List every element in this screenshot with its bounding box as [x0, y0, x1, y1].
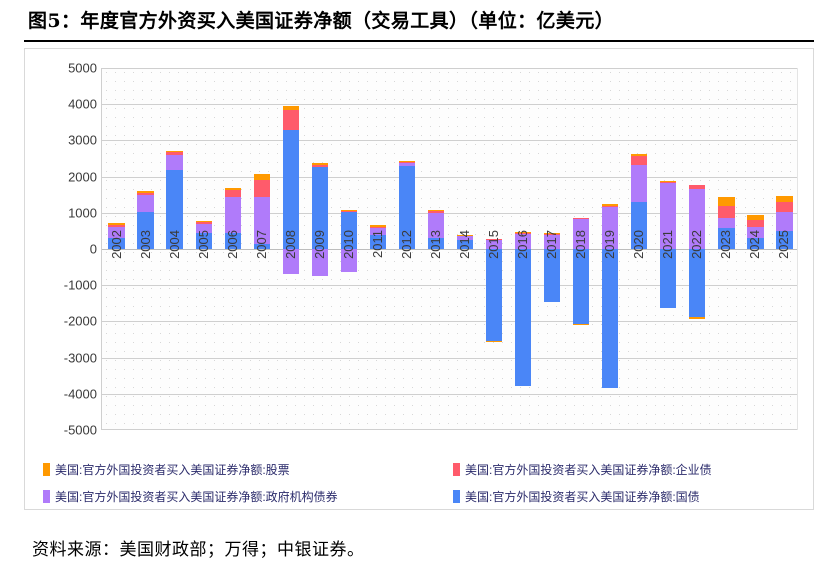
bar-segment: [457, 240, 473, 249]
bar-segment: [544, 234, 560, 235]
bar-segment: [515, 233, 531, 249]
bar-segment: [283, 110, 299, 130]
legend-item[interactable]: 美国:官方外国投资者买入美国证券净额:国债: [453, 484, 700, 508]
bar-segment: [689, 185, 705, 189]
bar-segment: [486, 239, 502, 240]
bar-segment: [196, 233, 212, 249]
bar-segment: [602, 249, 618, 388]
legend-label: 美国:官方外国投资者买入美国证券净额:企业债: [465, 461, 712, 478]
bar-column[interactable]: [370, 68, 386, 430]
bar-segment: [660, 183, 676, 249]
bar-segment: [137, 212, 153, 249]
bar-segment: [544, 233, 560, 234]
bar-segment: [776, 202, 792, 212]
y-tick-label: 5000: [27, 61, 97, 76]
bar-segment: [225, 188, 241, 190]
bar-segment: [718, 218, 734, 229]
bar-segment: [428, 210, 444, 211]
bar-segment: [108, 238, 124, 249]
bar-segment: [486, 239, 502, 249]
bar-segment: [370, 225, 386, 226]
bar-segment: [486, 341, 502, 342]
bar-segment: [399, 163, 415, 166]
y-tick-label: 0: [27, 242, 97, 257]
bar-segment: [515, 249, 531, 386]
bar-column[interactable]: [544, 68, 560, 430]
bar-segment: [399, 166, 415, 249]
chart-page: 图5：年度官方外资买入美国证券净额（交易工具）（单位：亿美元） 50004000…: [0, 0, 836, 581]
bar-segment: [370, 228, 386, 235]
bar-segment: [428, 213, 444, 238]
bar-column[interactable]: [283, 68, 299, 430]
bar-segment: [225, 233, 241, 249]
bar-column[interactable]: [341, 68, 357, 430]
bar-segment: [225, 190, 241, 197]
bar-segment: [283, 106, 299, 110]
bar-segment: [747, 220, 763, 227]
bar-segment: [718, 206, 734, 218]
bar-column[interactable]: [573, 68, 589, 430]
bar-segment: [254, 174, 270, 180]
bar-segment: [283, 249, 299, 274]
bar-segment: [166, 170, 182, 249]
bar-column[interactable]: [108, 68, 124, 430]
bar-segment: [341, 210, 357, 211]
bar-segment: [515, 232, 531, 233]
bar-segment: [312, 165, 328, 167]
bar-segment: [515, 233, 531, 234]
legend-color-swatch: [453, 490, 460, 503]
bar-segment: [428, 238, 444, 249]
legend-color-swatch: [43, 463, 50, 476]
bar-segment: [399, 161, 415, 162]
bar-column[interactable]: [137, 68, 153, 430]
y-tick-label: -4000: [27, 386, 97, 401]
figure-title: 图5：年度官方外资买入美国证券净额（交易工具）（单位：亿美元）: [28, 6, 818, 38]
legend-item[interactable]: 美国:官方外国投资者买入美国证券净额:企业债: [453, 457, 712, 481]
bar-segment: [312, 249, 328, 276]
bar-segment: [718, 228, 734, 249]
bar-segment: [166, 155, 182, 170]
bar-segment: [718, 197, 734, 206]
legend-item[interactable]: 美国:官方外国投资者买入美国证券净额:股票: [43, 457, 290, 481]
bar-segment: [137, 195, 153, 212]
bar-segment: [573, 219, 589, 249]
bar-segment: [108, 225, 124, 227]
y-tick-label: 2000: [27, 169, 97, 184]
bar-segment: [776, 196, 792, 203]
bar-segment: [631, 202, 647, 249]
bar-segment: [602, 204, 618, 205]
bar-segment: [660, 181, 676, 182]
bar-column[interactable]: [631, 68, 647, 430]
y-tick-label: 1000: [27, 205, 97, 220]
legend-item[interactable]: 美国:官方外国投资者买入美国证券净额:政府机构债券: [43, 484, 338, 508]
bar-segment: [631, 156, 647, 165]
bar-segment: [573, 324, 589, 325]
bar-segment: [602, 206, 618, 207]
bar-segment: [312, 163, 328, 164]
bar-segment: [689, 189, 705, 249]
bar-segment: [573, 249, 589, 324]
bar-segment: [631, 165, 647, 202]
y-tick-label: 4000: [27, 97, 97, 112]
bar-segment: [254, 244, 270, 249]
bar-column[interactable]: [747, 68, 763, 430]
plot-area: [101, 68, 798, 430]
bar-segment: [747, 227, 763, 238]
y-tick-label: -3000: [27, 350, 97, 365]
bar-segment: [254, 180, 270, 196]
bar-column[interactable]: [718, 68, 734, 430]
bar-column[interactable]: [225, 68, 241, 430]
y-axis-labels: 500040003000200010000-1000-2000-3000-400…: [25, 49, 101, 449]
bar-segment: [225, 197, 241, 234]
bar-segment: [137, 193, 153, 195]
bar-column[interactable]: [428, 68, 444, 430]
bar-segment: [776, 231, 792, 249]
chart-legend: 美国:官方外国投资者买入美国证券净额:股票美国:官方外国投资者买入美国证券净额:…: [25, 449, 815, 509]
bar-segment: [196, 224, 212, 233]
bar-segment: [747, 215, 763, 220]
bar-segment: [660, 249, 676, 308]
bar-segment: [196, 221, 212, 222]
legend-color-swatch: [453, 463, 460, 476]
bar-segment: [254, 197, 270, 245]
source-note: 资料来源：美国财政部；万得；中银证券。: [32, 535, 732, 560]
bar-column[interactable]: [457, 68, 473, 430]
bar-segment: [486, 249, 502, 341]
bar-segment: [660, 182, 676, 184]
bar-segment: [137, 191, 153, 192]
bar-segment: [457, 235, 473, 236]
chart-container: 500040003000200010000-1000-2000-3000-400…: [24, 48, 814, 510]
legend-label: 美国:官方外国投资者买入美国证券净额:政府机构债券: [55, 488, 338, 505]
bar-column[interactable]: [486, 68, 502, 430]
bar-column[interactable]: [689, 68, 705, 430]
legend-label: 美国:官方外国投资者买入美国证券净额:国债: [465, 488, 700, 505]
bar-segment: [341, 249, 357, 272]
bar-series-group: [102, 68, 797, 430]
bar-column[interactable]: [166, 68, 182, 430]
bar-segment: [544, 235, 560, 249]
bar-segment: [108, 223, 124, 224]
bar-segment: [631, 154, 647, 155]
title-divider: [24, 40, 814, 42]
bar-column[interactable]: [196, 68, 212, 430]
bar-segment: [370, 235, 386, 249]
bar-segment: [689, 249, 705, 317]
y-tick-label: -1000: [27, 278, 97, 293]
legend-label: 美国:官方外国投资者买入美国证券净额:股票: [55, 461, 290, 478]
bar-column[interactable]: [254, 68, 270, 430]
bar-segment: [544, 249, 560, 302]
y-tick-label: 3000: [27, 133, 97, 148]
bar-segment: [108, 227, 124, 238]
bar-column[interactable]: [515, 68, 531, 430]
y-tick-label: -5000: [27, 423, 97, 438]
bar-segment: [602, 206, 618, 249]
legend-color-swatch: [43, 490, 50, 503]
bar-segment: [689, 317, 705, 319]
bar-segment: [312, 167, 328, 249]
bar-column[interactable]: [776, 68, 792, 430]
bar-column[interactable]: [660, 68, 676, 430]
bar-column[interactable]: [399, 68, 415, 430]
bar-segment: [776, 212, 792, 231]
bar-segment: [166, 152, 182, 155]
bar-segment: [573, 218, 589, 219]
bar-segment: [341, 211, 357, 249]
bar-column[interactable]: [602, 68, 618, 430]
bar-segment: [283, 130, 299, 249]
plot-wrapper: 500040003000200010000-1000-2000-3000-400…: [25, 49, 815, 449]
y-tick-label: -2000: [27, 314, 97, 329]
bar-segment: [747, 238, 763, 249]
bar-column[interactable]: [312, 68, 328, 430]
bar-segment: [166, 151, 182, 152]
